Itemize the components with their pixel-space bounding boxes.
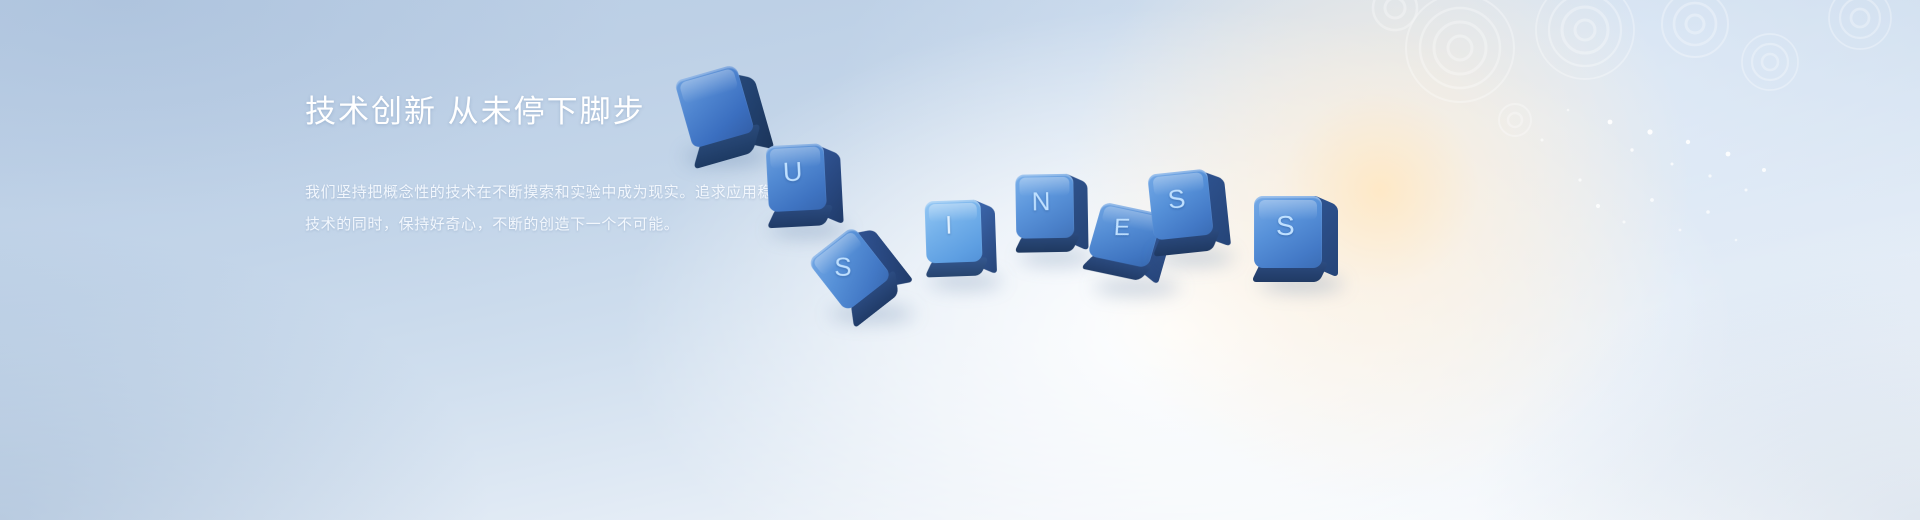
keycap-s-1: S bbox=[820, 218, 924, 328]
concentric-rings-icon bbox=[1300, 0, 1920, 260]
keycap-u-label: U bbox=[782, 156, 803, 188]
keycap-n-label: N bbox=[1031, 186, 1050, 217]
keycap-s-3-label: S bbox=[1276, 210, 1295, 242]
keycap-s-3: S bbox=[1250, 192, 1356, 296]
keycap-s-2: S bbox=[1148, 166, 1244, 270]
keycap-s-2-label: S bbox=[1166, 183, 1186, 216]
sparkle-dots-icon bbox=[1280, 80, 1800, 310]
keycap-e-label: E bbox=[1113, 214, 1131, 242]
keycap-s-1-label: S bbox=[834, 252, 851, 283]
keycap-i: I bbox=[922, 196, 1012, 294]
keycap-i-label: I bbox=[945, 212, 953, 241]
hero-banner: 技术创新 从未停下脚步 我们坚持把概念性的技术在不断摸索和实验中成为现实。追求应… bbox=[0, 0, 1920, 520]
